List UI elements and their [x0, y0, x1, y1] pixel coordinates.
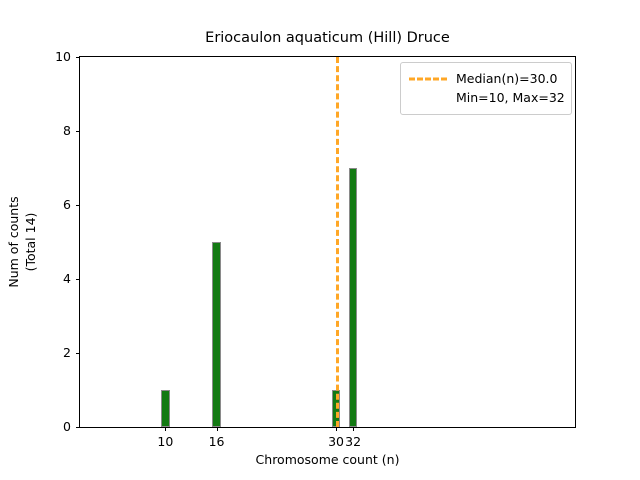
- chart-legend: Median(n)=30.0 Min=10, Max=32: [400, 62, 572, 115]
- x-tick-mark: [336, 427, 337, 431]
- x-axis-label: Chromosome count (n): [79, 452, 576, 467]
- y-tick-mark: [76, 131, 80, 132]
- x-tick-label: 32: [333, 434, 373, 449]
- blank-swatch-icon: [409, 92, 447, 104]
- y-tick-mark: [76, 353, 80, 354]
- y-tick-label: 4: [63, 271, 71, 286]
- bar: [212, 242, 221, 427]
- legend-label-median: Median(n)=30.0: [456, 71, 557, 86]
- y-tick-label: 10: [55, 49, 71, 64]
- legend-entry-median: Median(n)=30.0: [409, 69, 563, 88]
- y-axis-label-main: Num of counts: [6, 196, 21, 287]
- y-tick-mark: [76, 279, 80, 280]
- chart-title: Eriocaulon aquaticum (Hill) Druce: [79, 30, 576, 46]
- y-tick-label: 2: [63, 345, 71, 360]
- bar: [349, 168, 358, 427]
- y-tick-label: 6: [63, 197, 71, 212]
- legend-entry-minmax: Min=10, Max=32: [409, 88, 563, 107]
- y-tick-label: 0: [63, 419, 71, 434]
- x-tick-label: 10: [145, 434, 185, 449]
- y-axis-label-wrapper: Num of counts (Total 14): [0, 56, 46, 428]
- chart-figure: Eriocaulon aquaticum (Hill) Druce Num of…: [0, 0, 640, 480]
- dashed-line-icon: [409, 73, 447, 85]
- y-tick-mark: [76, 427, 80, 428]
- x-tick-label: 16: [197, 434, 237, 449]
- y-axis-label: Num of counts (Total 14): [6, 196, 40, 287]
- x-tick-mark: [165, 427, 166, 431]
- x-tick-mark: [217, 427, 218, 431]
- x-tick-mark: [353, 427, 354, 431]
- y-axis-label-total: (Total 14): [23, 196, 40, 287]
- legend-label-minmax: Min=10, Max=32: [456, 90, 565, 105]
- bar: [161, 390, 170, 427]
- y-tick-mark: [76, 205, 80, 206]
- median-line-marker: [336, 57, 339, 427]
- y-tick-mark: [76, 57, 80, 58]
- y-tick-label: 8: [63, 123, 71, 138]
